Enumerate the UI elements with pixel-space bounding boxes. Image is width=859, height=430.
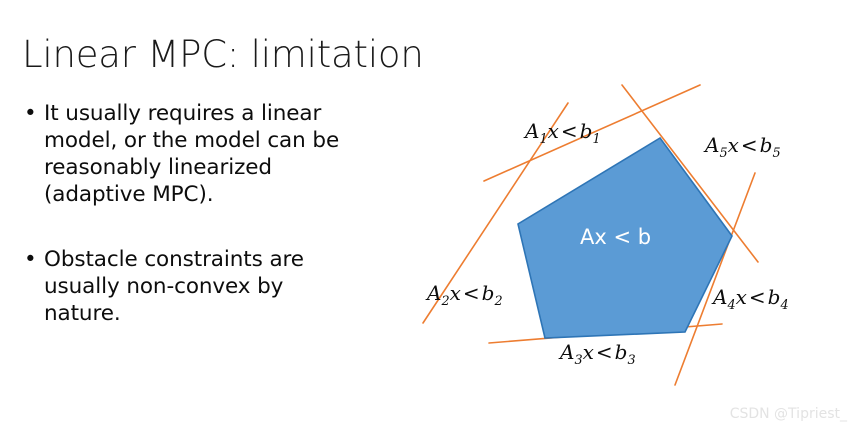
constraint-a3-op: < [594, 340, 615, 364]
constraint-a2-op: < [461, 281, 482, 305]
constraint-a1-var: x [548, 119, 559, 143]
list-item: • Obstacle constraints are usually non-c… [18, 246, 354, 327]
constraint-a1-A: A [525, 119, 539, 143]
constraint-a1-b-sub: 1 [592, 132, 600, 147]
constraint-a2-b-sub: 2 [494, 294, 502, 309]
constraint-a2-A: A [427, 281, 441, 305]
constraint-a1-b: b [580, 119, 593, 143]
constraint-label-a5: A5x<b5 [705, 133, 781, 161]
constraint-a5-op: < [739, 133, 760, 157]
constraint-a3-b: b [615, 340, 628, 364]
list-item-text: It usually requires a linear model, or t… [44, 101, 339, 207]
constraint-a4-var: x [736, 285, 747, 309]
constraint-a1-op: < [559, 119, 580, 143]
list-item: • It usually requires a linear model, or… [18, 100, 354, 208]
constraint-a5-b: b [760, 133, 773, 157]
constraint-a4-b: b [768, 285, 781, 309]
constraint-a4-A-sub: 4 [727, 298, 735, 313]
constraint-a4-op: < [747, 285, 768, 309]
constraint-a5-A-sub: 5 [719, 146, 727, 161]
feasible-region-label: Ax < b [580, 225, 651, 249]
constraint-a3-var: x [583, 340, 594, 364]
constraint-label-a3: A3x<b3 [560, 340, 636, 368]
bullet-marker-icon: • [24, 100, 37, 127]
constraint-a5-b-sub: 5 [772, 146, 780, 161]
constraint-polytope-diagram: Ax < b A1x<b1 A2x<b2 A3x<b3 A4x<b4 A5x<b… [410, 55, 859, 400]
constraint-a2-b: b [482, 281, 495, 305]
constraint-label-a4: A4x<b4 [713, 285, 789, 313]
bullet-marker-icon: • [24, 246, 37, 273]
constraint-a4-b-sub: 4 [780, 298, 788, 313]
constraint-a2-A-sub: 2 [441, 294, 449, 309]
constraint-a3-b-sub: 3 [627, 353, 635, 368]
bullet-list: • It usually requires a linear model, or… [18, 100, 354, 328]
constraint-a2-var: x [450, 281, 461, 305]
constraint-label-a1: A1x<b1 [525, 119, 601, 147]
constraint-a1-A-sub: 1 [539, 132, 547, 147]
constraint-a4-A: A [713, 285, 727, 309]
constraint-label-a2: A2x<b2 [427, 281, 503, 309]
list-item-text: Obstacle constraints are usually non-con… [44, 247, 304, 326]
constraint-a5-var: x [728, 133, 739, 157]
csdn-watermark: CSDN @Tipriest_ [730, 406, 847, 422]
slide-canvas: Linear MPC: limitation • It usually requ… [0, 0, 859, 430]
constraint-a5-A: A [705, 133, 719, 157]
constraint-a3-A-sub: 3 [574, 353, 582, 368]
constraint-a3-A: A [560, 340, 574, 364]
